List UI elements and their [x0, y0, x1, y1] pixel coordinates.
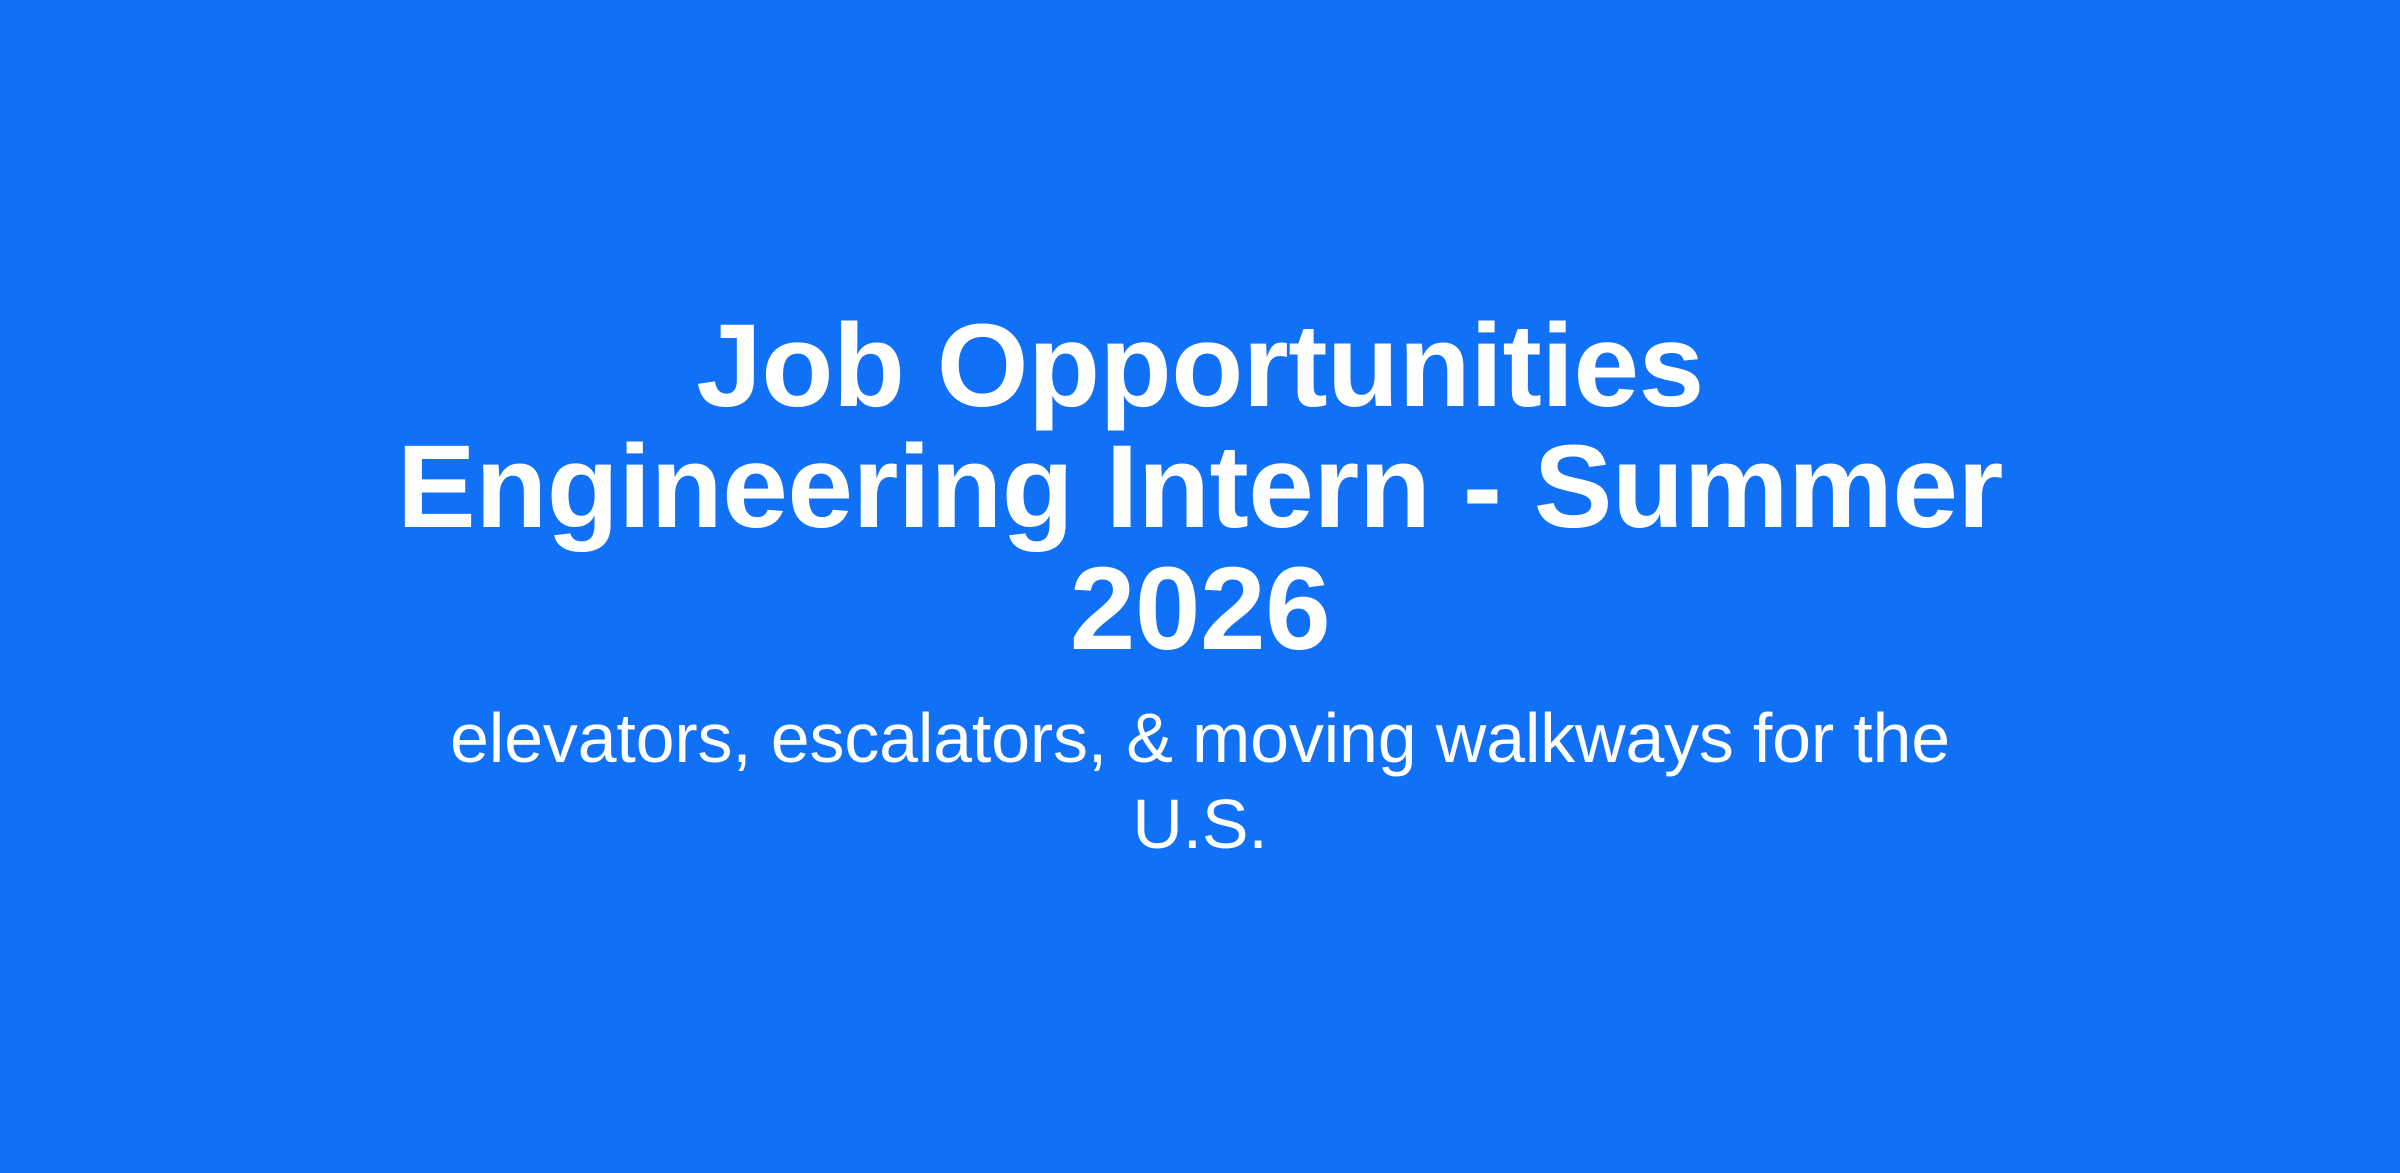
- hero-content: Job Opportunities Engineering Intern - S…: [350, 306, 2050, 867]
- page-title: Job Opportunities Engineering Intern - S…: [360, 306, 2040, 671]
- job-posting-hero-card: Job Opportunities Engineering Intern - S…: [0, 0, 2400, 1173]
- page-subtitle: elevators, escalators, & moving walkways…: [380, 696, 2020, 867]
